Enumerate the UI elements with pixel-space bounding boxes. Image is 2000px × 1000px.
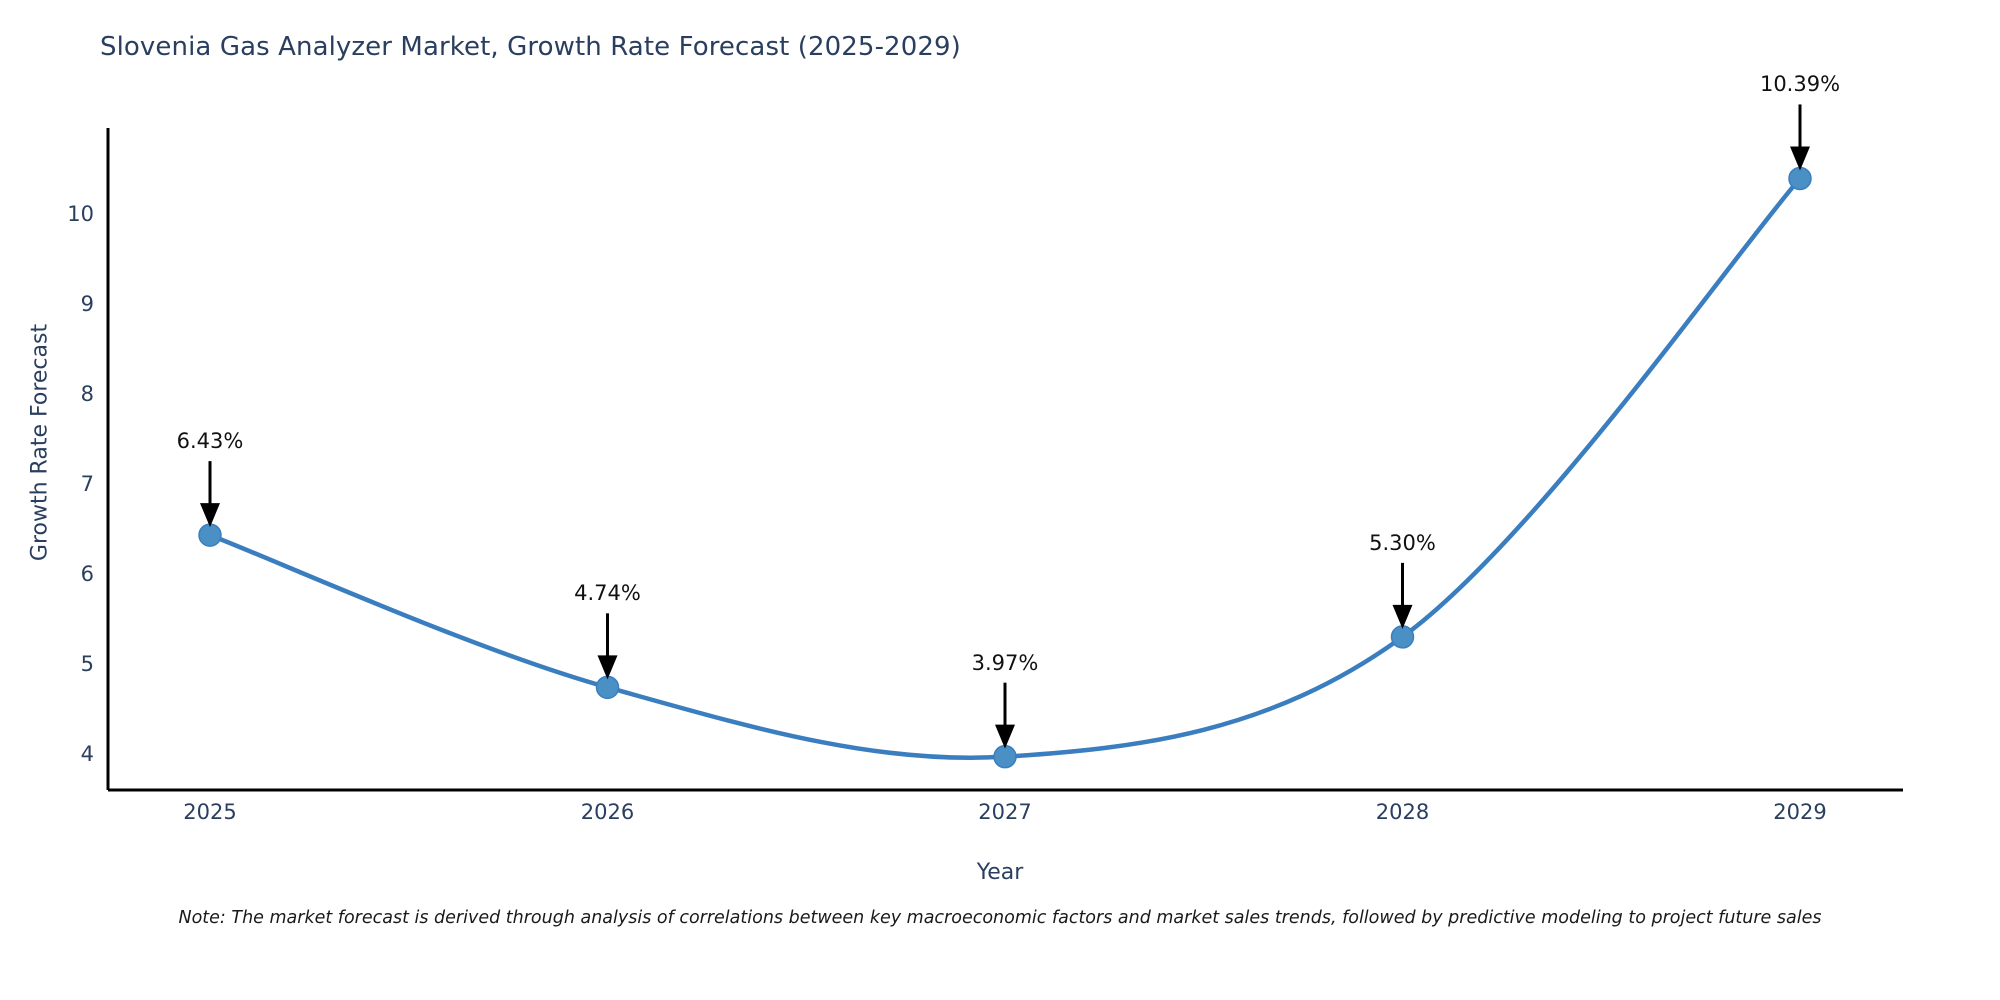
annotation-arrow-head — [200, 503, 220, 527]
chart-footnote: Note: The market forecast is derived thr… — [0, 908, 2000, 928]
annotation-arrow-head — [598, 655, 618, 679]
data-point-marker[interactable] — [1392, 626, 1414, 648]
series-line-growth-rate-forecast — [210, 178, 1800, 757]
data-point-marker[interactable] — [994, 746, 1016, 768]
plot-area — [0, 0, 2000, 1000]
annotation-arrow-head — [1790, 146, 1810, 170]
data-point-marker[interactable] — [597, 676, 619, 698]
chart-container: Slovenia Gas Analyzer Market, Growth Rat… — [0, 0, 2000, 1000]
data-point-marker[interactable] — [199, 524, 221, 546]
annotation-arrow-head — [995, 725, 1015, 749]
annotation-arrow-head — [1393, 605, 1413, 629]
annotation-arrows — [200, 104, 1810, 748]
data-point-marker[interactable] — [1789, 167, 1811, 189]
